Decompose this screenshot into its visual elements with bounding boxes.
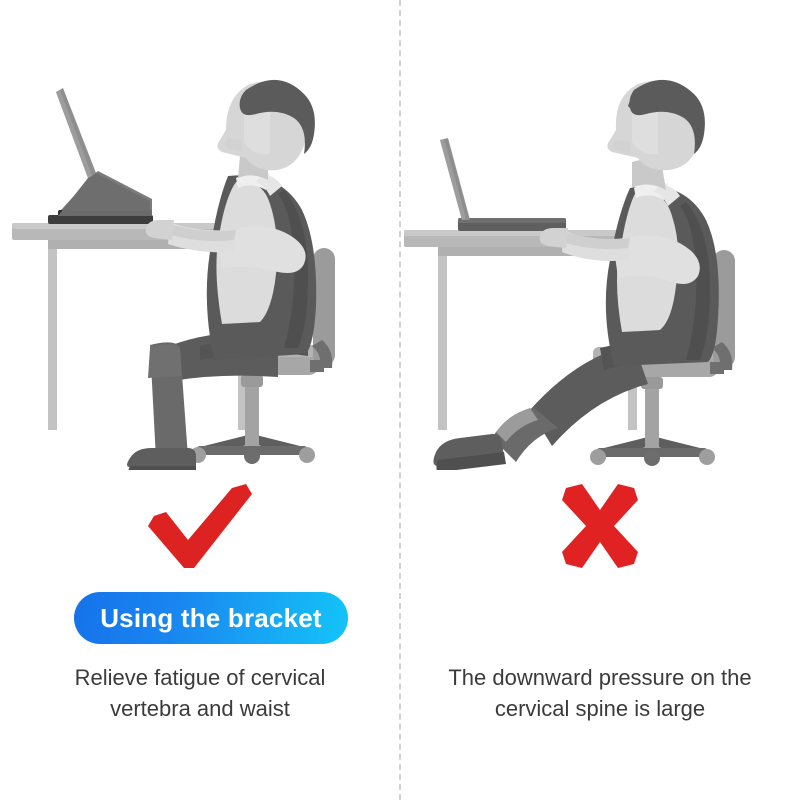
verdict-mark-left: [0, 478, 400, 573]
caption-left: Relieve fatigue of cervical vertebra and…: [0, 662, 400, 724]
pill-using-the-bracket[interactable]: Using the bracket: [74, 592, 348, 644]
check-icon: [140, 482, 260, 570]
illustration-good-posture: [0, 60, 400, 470]
pill-label-left: Using the bracket: [100, 603, 322, 634]
cross-icon: [554, 482, 646, 570]
illustration-bad-posture: [400, 60, 800, 470]
caption-left-line-2: vertebra and waist: [0, 693, 400, 724]
caption-right-line-1: The downward pressure on the: [400, 662, 800, 693]
panel-left: Using the bracket Relieve fatigue of cer…: [0, 0, 400, 800]
verdict-mark-right: [400, 478, 800, 573]
caption-left-line-1: Relieve fatigue of cervical: [0, 662, 400, 693]
caption-right-line-2: cervical spine is large: [400, 693, 800, 724]
panel-right: No bracket The downward pressure on the …: [400, 0, 800, 800]
comparison-infographic: Using the bracket Relieve fatigue of cer…: [0, 0, 800, 800]
caption-right: The downward pressure on the cervical sp…: [400, 662, 800, 724]
